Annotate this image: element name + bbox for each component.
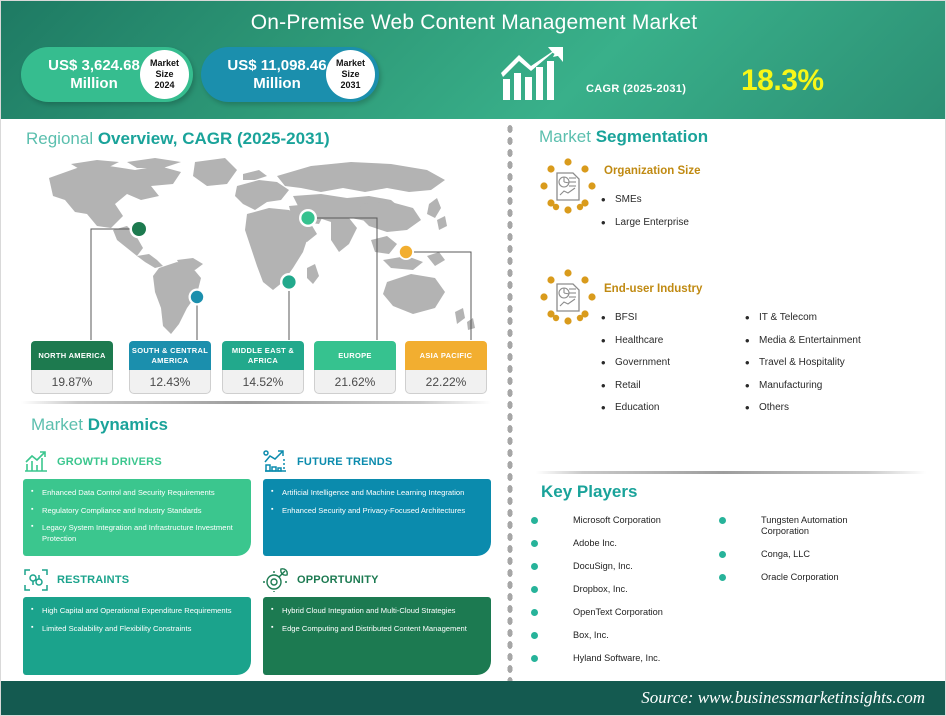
list-item: Enhanced Security and Privacy-Focused Ar…: [271, 506, 481, 517]
list-item: Dropbox, Inc.: [531, 584, 663, 595]
opportunity-card: Hybrid Cloud Integration and Multi-Cloud…: [263, 597, 491, 675]
marker-middle-east-africa: [282, 275, 295, 288]
market-size-2031-pill: US$ 11,098.46 Million Market Size 2031: [201, 47, 379, 102]
document-chart-dots-icon: [539, 269, 597, 327]
region-name: ASIA PACIFIC: [405, 341, 487, 370]
vertical-dotted-divider: [506, 123, 514, 683]
restraints-header: RESTRAINTS: [23, 567, 251, 593]
market-size-2024-value: US$ 3,624.68: [48, 57, 140, 74]
region-value: 19.87%: [31, 370, 113, 394]
cagr-label: CAGR (2025-2031): [586, 83, 686, 95]
list-item: Oracle Corporation: [719, 572, 869, 583]
future-trends-list: Artificial Intelligence and Machine Lear…: [271, 488, 481, 516]
market-size-2031-unit: Million: [253, 75, 301, 92]
growth-drivers-header: GROWTH DRIVERS: [23, 449, 251, 475]
growth-drivers-card: Enhanced Data Control and Security Requi…: [23, 479, 251, 556]
list-item: Hyland Software, Inc.: [531, 653, 663, 664]
segmentation-heading-light: Market: [539, 127, 596, 146]
list-item: Manufacturing: [743, 380, 861, 391]
region-name: EUROPE: [314, 341, 396, 370]
region-name: SOUTH & CENTRAL AMERICA: [129, 341, 211, 370]
growth-chart-icon: [501, 47, 573, 102]
list-item: Regulatory Compliance and Industry Stand…: [31, 506, 241, 517]
restraints-block: RESTRAINTS High Capital and Operational …: [23, 567, 251, 675]
document-chart-dots-icon: [539, 158, 597, 216]
list-item: Travel & Hospitality: [743, 357, 861, 368]
region-card-south-central-america: SOUTH & CENTRAL AMERICA 12.43%: [129, 341, 211, 394]
list-item: Tungsten Automation Corporation: [719, 515, 869, 537]
regional-heading-bold: Overview, CAGR (2025-2031): [98, 129, 330, 148]
future-trends-title: FUTURE TRENDS: [297, 456, 393, 468]
segment-list-end-user-col-b: IT & Telecom Media & Entertainment Trave…: [743, 312, 861, 425]
market-size-2024-unit: Million: [70, 75, 118, 92]
region-value: 12.43%: [129, 370, 211, 394]
market-size-2024-badge: Market Size 2024: [140, 50, 189, 99]
opportunity-list: Hybrid Cloud Integration and Multi-Cloud…: [271, 606, 481, 634]
source-text: Source: www.businessmarketinsights.com: [641, 688, 925, 708]
market-size-2031-badge: Market Size 2031: [326, 50, 375, 99]
badge-line-year: 2024: [154, 80, 174, 91]
key-players-list-col-a: Microsoft Corporation Adobe Inc. DocuSig…: [531, 515, 663, 676]
marker-south-central-america: [191, 291, 203, 303]
list-item: Box, Inc.: [531, 630, 663, 641]
list-item: Media & Entertainment: [743, 335, 861, 346]
opportunity-block: OPPORTUNITY Hybrid Cloud Integration and…: [263, 567, 491, 675]
regional-overview-heading: Regional Overview, CAGR (2025-2031): [26, 129, 330, 149]
list-item: Enhanced Data Control and Security Requi…: [31, 488, 241, 499]
future-trends-card: Artificial Intelligence and Machine Lear…: [263, 479, 491, 556]
list-item: Microsoft Corporation: [531, 515, 663, 526]
list-item: Government: [599, 357, 670, 368]
list-item: Hybrid Cloud Integration and Multi-Cloud…: [271, 606, 481, 617]
market-size-2031-value: US$ 11,098.46: [227, 57, 326, 74]
region-value: 21.62%: [314, 370, 396, 394]
trend-analytics-icon: [263, 450, 289, 474]
world-map: [31, 156, 491, 341]
list-item: SMEs: [599, 194, 689, 205]
market-segmentation-heading: Market Segmentation: [539, 127, 708, 147]
key-players-divider: [536, 471, 926, 474]
list-item: IT & Telecom: [743, 312, 861, 323]
list-item: Artificial Intelligence and Machine Lear…: [271, 488, 481, 499]
segmentation-heading-bold: Segmentation: [596, 127, 708, 146]
restraints-card: High Capital and Operational Expenditure…: [23, 597, 251, 675]
bar-chart-growth-icon: [23, 450, 49, 474]
key-players-heading-bold: Players: [577, 482, 638, 501]
segment-label-end-user-industry: End-user Industry: [604, 283, 702, 295]
growth-drivers-title: GROWTH DRIVERS: [57, 456, 162, 468]
dynamics-divider: [21, 401, 491, 404]
page-title: On-Premise Web Content Management Market: [1, 11, 946, 35]
cagr-value: 18.3%: [741, 64, 824, 98]
segment-list-end-user-col-a: BFSI Healthcare Government Retail Educat…: [599, 312, 670, 425]
badge-line-size: Size: [341, 69, 359, 80]
target-gear-icon: [263, 568, 289, 592]
region-name: NORTH AMERICA: [31, 341, 113, 370]
growth-drivers-list: Enhanced Data Control and Security Requi…: [31, 488, 241, 544]
list-item: Retail: [599, 380, 670, 391]
segment-list-organization-size: SMEs Large Enterprise: [599, 194, 689, 239]
marker-europe: [301, 211, 314, 224]
key-players-heading-light: Key: [541, 482, 577, 501]
footer-bar: Source: www.businessmarketinsights.com: [1, 681, 946, 715]
restraints-title: RESTRAINTS: [57, 574, 129, 586]
list-item: Limited Scalability and Flexibility Cons…: [31, 624, 241, 635]
future-trends-header: FUTURE TRENDS: [263, 449, 491, 475]
badge-line-market: Market: [150, 58, 179, 69]
opportunity-title: OPPORTUNITY: [297, 574, 379, 586]
key-players-heading: Key Players: [541, 482, 637, 502]
network-constraint-icon: [23, 568, 49, 592]
regional-heading-light: Regional: [26, 129, 98, 148]
region-value: 14.52%: [222, 370, 304, 394]
list-item: Conga, LLC: [719, 549, 869, 560]
list-item: High Capital and Operational Expenditure…: [31, 606, 241, 617]
header-banner: On-Premise Web Content Management Market…: [1, 1, 946, 119]
future-trends-block: FUTURE TRENDS Artificial Intelligence an…: [263, 449, 491, 556]
badge-line-size: Size: [155, 69, 173, 80]
region-value: 22.22%: [405, 370, 487, 394]
region-card-middle-east-africa: MIDDLE EAST & AFRICA 14.52%: [222, 341, 304, 394]
marker-asia-pacific: [400, 246, 412, 258]
growth-drivers-block: GROWTH DRIVERS Enhanced Data Control and…: [23, 449, 251, 556]
list-item: Large Enterprise: [599, 217, 689, 228]
key-players-list-col-b: Tungsten Automation Corporation Conga, L…: [719, 515, 869, 595]
list-item: Edge Computing and Distributed Content M…: [271, 624, 481, 635]
list-item: Adobe Inc.: [531, 538, 663, 549]
list-item: DocuSign, Inc.: [531, 561, 663, 572]
market-dynamics-heading: Market Dynamics: [31, 415, 168, 435]
badge-line-year: 2031: [340, 80, 360, 91]
region-card-asia-pacific: ASIA PACIFIC 22.22%: [405, 341, 487, 394]
list-item: Education: [599, 402, 670, 413]
dynamics-heading-bold: Dynamics: [88, 415, 168, 434]
region-card-north-america: NORTH AMERICA 19.87%: [31, 341, 113, 394]
list-item: Legacy System Integration and Infrastruc…: [31, 523, 241, 544]
opportunity-header: OPPORTUNITY: [263, 567, 491, 593]
segment-label-organization-size: Organization Size: [604, 165, 701, 177]
region-card-europe: EUROPE 21.62%: [314, 341, 396, 394]
dynamics-heading-light: Market: [31, 415, 88, 434]
restraints-list: High Capital and Operational Expenditure…: [31, 606, 241, 634]
region-name: MIDDLE EAST & AFRICA: [222, 341, 304, 370]
list-item: OpenText Corporation: [531, 607, 663, 618]
badge-line-market: Market: [336, 58, 365, 69]
list-item: BFSI: [599, 312, 670, 323]
list-item: Healthcare: [599, 335, 670, 346]
marker-north-america: [132, 222, 146, 236]
infographic-page: On-Premise Web Content Management Market…: [0, 0, 946, 716]
list-item: Others: [743, 402, 861, 413]
market-size-2024-pill: US$ 3,624.68 Million Market Size 2024: [21, 47, 193, 102]
